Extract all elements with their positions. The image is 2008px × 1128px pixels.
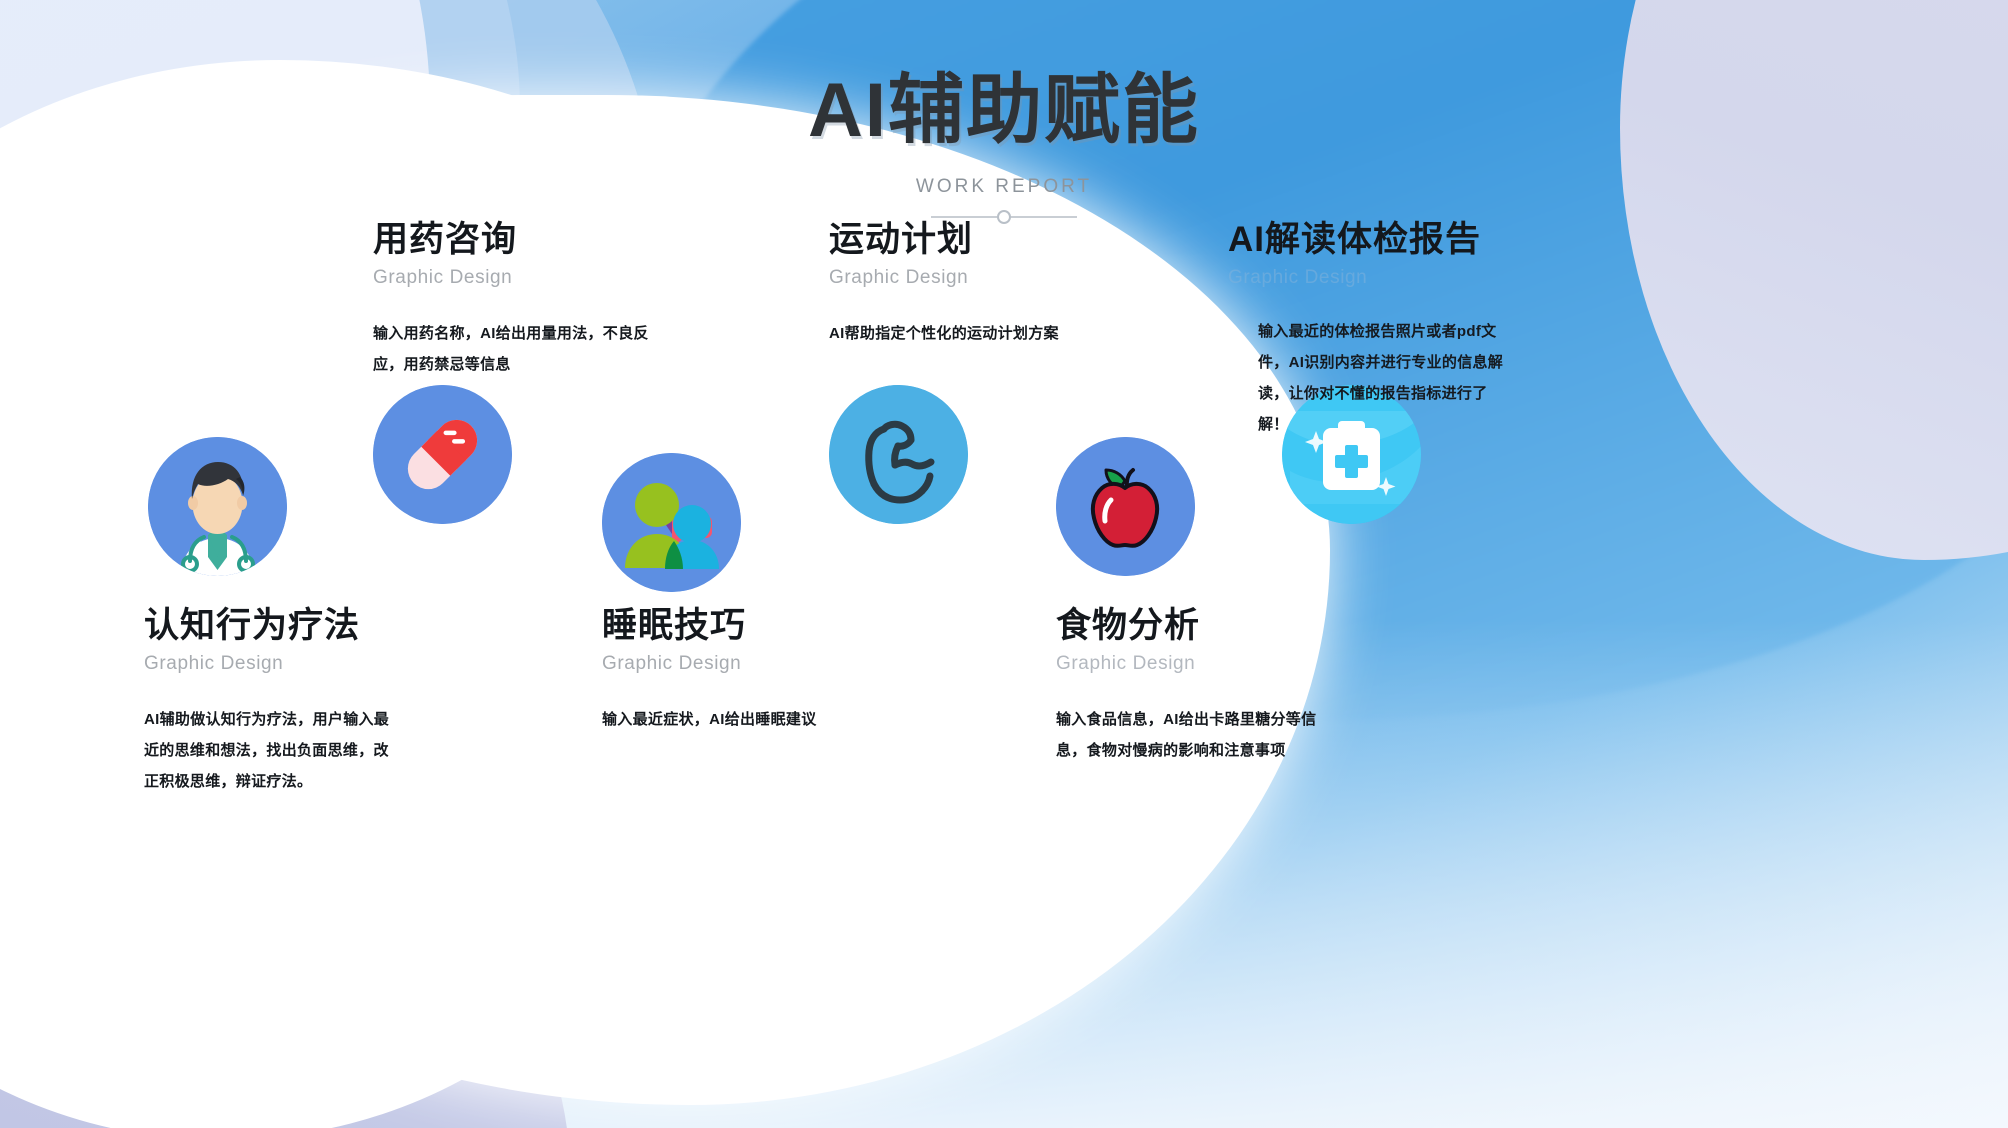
block-description: AI帮助指定个性化的运动计划方案 bbox=[829, 319, 1059, 350]
block-title: 运动计划 bbox=[829, 220, 1059, 260]
block-description: 输入食品信息，AI给出卡路里糖分等信息，食物对慢病的影响和注意事项 bbox=[1056, 705, 1324, 767]
block-exercise-plan: 运动计划 Graphic Design AI帮助指定个性化的运动计划方案 bbox=[829, 220, 1059, 350]
block-subtitle: Graphic Design bbox=[1228, 267, 1498, 289]
people-chat-icon[interactable] bbox=[602, 453, 741, 592]
block-subtitle: Graphic Design bbox=[602, 653, 862, 675]
pill-icon[interactable] bbox=[373, 385, 512, 524]
block-description: AI辅助做认知行为疗法，用户输入最近的思维和想法，找出负面思维，改正积极思维，辩… bbox=[144, 705, 396, 797]
block-cognitive-behavioral-therapy: 认知行为疗法 Graphic Design AI辅助做认知行为疗法，用户输入最近… bbox=[144, 606, 414, 798]
block-description: 输入最近的体检报告照片或者pdf文件，AI识别内容并进行专业的信息解读，让你对不… bbox=[1258, 317, 1510, 440]
page-title: AI辅助赋能 bbox=[0, 48, 2008, 158]
page-subtitle: WORK REPORT bbox=[0, 176, 2008, 198]
slide-canvas: AI辅助赋能 WORK REPORT bbox=[0, 0, 2008, 1128]
block-title: 用药咨询 bbox=[373, 220, 663, 260]
block-ai-medical-report: AI解读体检报告 Graphic Design 输入最近的体检报告照片或者pdf… bbox=[1228, 220, 1498, 440]
divider-dot bbox=[997, 210, 1011, 224]
block-subtitle: Graphic Design bbox=[373, 267, 663, 289]
header-divider bbox=[931, 210, 1077, 224]
block-subtitle: Graphic Design bbox=[1056, 653, 1356, 675]
block-food-analysis: 食物分析 Graphic Design 输入食品信息，AI给出卡路里糖分等信息，… bbox=[1056, 606, 1356, 767]
block-title: AI解读体检报告 bbox=[1228, 220, 1498, 260]
block-subtitle: Graphic Design bbox=[144, 653, 414, 675]
apple-icon[interactable] bbox=[1056, 437, 1195, 576]
block-title: 睡眠技巧 bbox=[602, 606, 862, 646]
block-medication-consult: 用药咨询 Graphic Design 输入用药名称，AI给出用量用法，不良反应… bbox=[373, 220, 663, 381]
block-title: 食物分析 bbox=[1056, 606, 1356, 646]
block-description: 输入用药名称，AI给出用量用法，不良反应，用药禁忌等信息 bbox=[373, 319, 663, 381]
block-subtitle: Graphic Design bbox=[829, 267, 1059, 289]
doctor-icon[interactable] bbox=[148, 437, 287, 576]
block-sleep-tips: 睡眠技巧 Graphic Design 输入最近症状，AI给出睡眠建议 bbox=[602, 606, 862, 736]
muscle-icon[interactable] bbox=[829, 385, 968, 524]
block-title: 认知行为疗法 bbox=[144, 606, 414, 646]
slide-header: AI辅助赋能 WORK REPORT bbox=[0, 48, 2008, 224]
block-description: 输入最近症状，AI给出睡眠建议 bbox=[602, 705, 862, 736]
